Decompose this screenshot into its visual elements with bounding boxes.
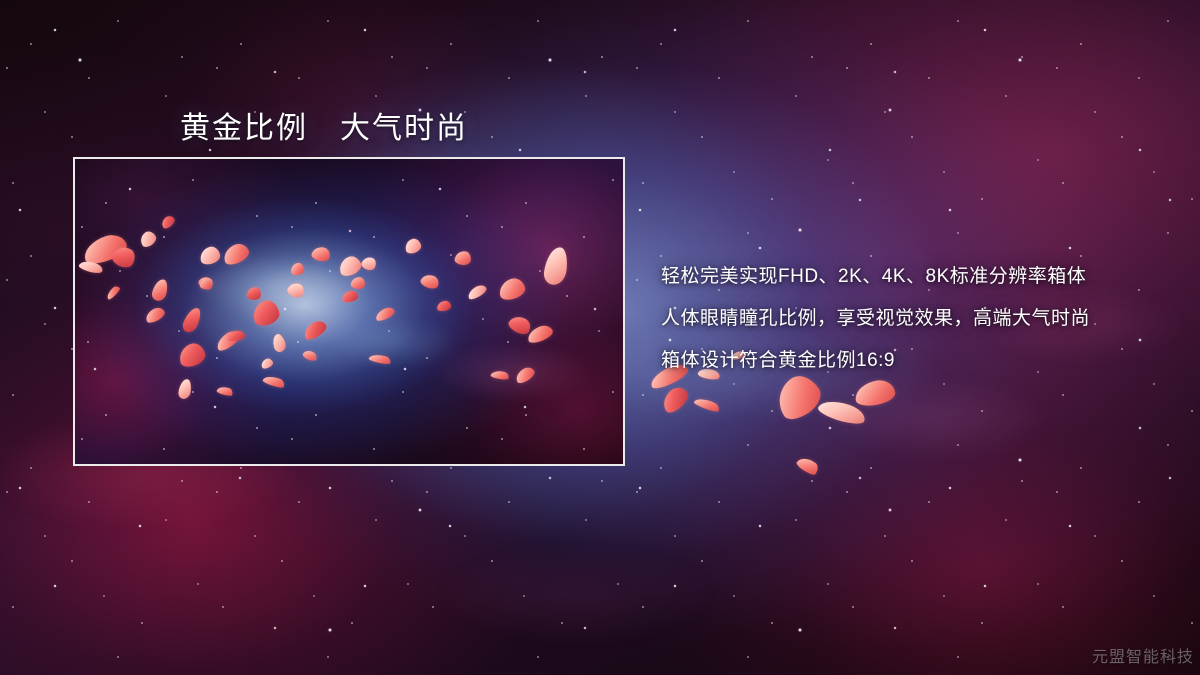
photo-content [75, 159, 623, 464]
body-line-2: 人体眼睛瞳孔比例，享受视觉效果，高端大气时尚 [661, 298, 1161, 340]
body-line-1: 轻松完美实现FHD、2K、4K、8K标准分辨率箱体 [661, 256, 1161, 298]
watermark: 元盟智能科技 [1092, 643, 1194, 667]
presentation-slide: 黄金比例 大气时尚 轻松完美实现FHD、2K、4K、8K标准分辨率箱体 人体眼睛… [0, 0, 1200, 675]
page-title: 黄金比例 大气时尚 [180, 103, 468, 147]
petal-decoration [693, 395, 720, 413]
petal-decoration [658, 383, 692, 416]
petal-decoration [795, 454, 820, 477]
body-line-3: 箱体设计符合黄金比例16:9 [661, 340, 1161, 382]
framed-photo [73, 157, 625, 466]
body-text-block: 轻松完美实现FHD、2K、4K、8K标准分辨率箱体 人体眼睛瞳孔比例，享受视觉效… [661, 256, 1161, 382]
petal-decoration [200, 279, 212, 289]
petal-decoration [854, 378, 897, 407]
